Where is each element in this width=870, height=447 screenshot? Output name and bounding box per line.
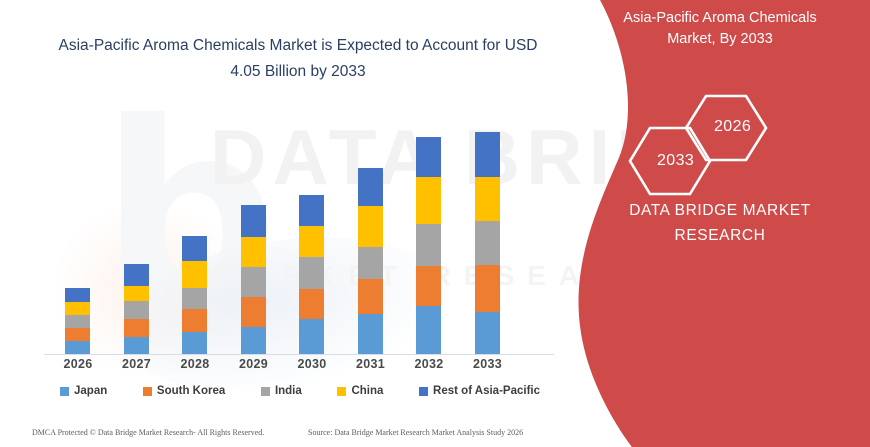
x-tick-2032: 2032 xyxy=(399,357,459,371)
footer-copyright: DMCA Protected © Data Bridge Market Rese… xyxy=(32,428,264,437)
legend-item-south-korea[interactable]: South Korea xyxy=(143,385,225,397)
brand-name: DATA BRIDGE MARKET RESEARCH xyxy=(595,198,845,248)
bar-segment-china xyxy=(124,286,149,301)
bar-segment-china xyxy=(475,177,500,221)
bar-segment-south-korea xyxy=(358,279,383,314)
bar-segment-japan xyxy=(416,306,441,354)
bar-segment-south-korea xyxy=(416,266,441,306)
bar-segment-china xyxy=(241,237,266,267)
bar-segment-china xyxy=(299,226,324,257)
legend-swatch-icon xyxy=(419,387,428,396)
chart-x-tick-labels: 20262027202820292030203120322033 xyxy=(40,357,560,377)
bar-segment-india xyxy=(358,247,383,279)
bar-segment-india xyxy=(416,224,441,266)
chart-x-axis xyxy=(44,354,554,355)
legend-item-china[interactable]: China xyxy=(337,385,383,397)
legend-swatch-icon xyxy=(261,387,270,396)
hexagon-pair: 2033 2026 xyxy=(610,90,840,200)
chart-legend: JapanSouth KoreaIndiaChinaRest of Asia-P… xyxy=(60,385,540,397)
x-tick-2030: 2030 xyxy=(282,357,342,371)
bar-segment-rest-of-asia-pacific xyxy=(358,168,383,206)
page-title: Asia-Pacific Aroma Chemicals Market is E… xyxy=(58,33,538,85)
bar-segment-japan xyxy=(358,314,383,354)
bar-segment-rest-of-asia-pacific xyxy=(475,132,500,177)
bar-segment-rest-of-asia-pacific xyxy=(65,288,90,302)
bar-2027 xyxy=(124,264,149,354)
bar-segment-south-korea xyxy=(299,289,324,319)
bar-segment-china xyxy=(416,177,441,224)
bar-2026 xyxy=(65,288,90,354)
bar-segment-japan xyxy=(299,319,324,354)
legend-label: South Korea xyxy=(157,385,225,397)
bar-segment-india xyxy=(241,267,266,297)
legend-swatch-icon xyxy=(337,387,346,396)
bar-segment-china xyxy=(65,302,90,315)
legend-item-rest-of-asia-pacific[interactable]: Rest of Asia-Pacific xyxy=(419,385,540,397)
bar-2031 xyxy=(358,168,383,354)
hexagon-shapes xyxy=(610,90,840,200)
bar-segment-south-korea xyxy=(182,309,207,332)
bar-segment-india xyxy=(182,288,207,309)
bar-segment-japan xyxy=(124,337,149,354)
hexagon-2033-label: 2033 xyxy=(657,152,694,170)
bar-segment-rest-of-asia-pacific xyxy=(124,264,149,286)
x-tick-2029: 2029 xyxy=(224,357,284,371)
bar-2029 xyxy=(241,205,266,354)
bar-2030 xyxy=(299,195,324,354)
legend-label: Japan xyxy=(74,385,107,397)
x-tick-2031: 2031 xyxy=(341,357,401,371)
bar-segment-india xyxy=(299,257,324,289)
legend-label: India xyxy=(275,385,302,397)
brand-panel: Asia-Pacific Aroma Chemicals Market, By … xyxy=(570,0,870,447)
legend-item-japan[interactable]: Japan xyxy=(60,385,107,397)
bar-segment-china xyxy=(182,261,207,288)
bar-2032 xyxy=(416,137,441,354)
infographic-canvas: b DATA BRIDGE MARKET RESEARCH Asia-Pacif… xyxy=(0,0,870,447)
footer: DMCA Protected © Data Bridge Market Rese… xyxy=(0,428,600,442)
panel-title: Asia-Pacific Aroma Chemicals Market, By … xyxy=(600,8,840,50)
legend-label: Rest of Asia-Pacific xyxy=(433,385,540,397)
bar-segment-japan xyxy=(65,341,90,354)
x-tick-2027: 2027 xyxy=(107,357,167,371)
legend-label: China xyxy=(351,385,383,397)
bar-segment-south-korea xyxy=(475,265,500,312)
bar-segment-china xyxy=(358,206,383,247)
bar-segment-south-korea xyxy=(124,319,149,337)
bar-segment-japan xyxy=(475,312,500,354)
bar-segment-rest-of-asia-pacific xyxy=(299,195,324,226)
footer-source: Source: Data Bridge Market Research Mark… xyxy=(308,428,523,437)
legend-swatch-icon xyxy=(60,387,69,396)
legend-item-india[interactable]: India xyxy=(261,385,302,397)
x-tick-2028: 2028 xyxy=(165,357,225,371)
bar-segment-rest-of-asia-pacific xyxy=(182,236,207,261)
bar-segment-south-korea xyxy=(241,297,266,327)
bar-segment-india xyxy=(124,301,149,319)
stacked-bar-chart xyxy=(40,100,560,355)
bar-segment-japan xyxy=(182,332,207,354)
bar-segment-japan xyxy=(241,327,266,354)
x-tick-2033: 2033 xyxy=(458,357,518,371)
legend-swatch-icon xyxy=(143,387,152,396)
bar-2033 xyxy=(475,132,500,354)
bar-segment-india xyxy=(475,221,500,265)
bar-segment-rest-of-asia-pacific xyxy=(416,137,441,177)
bar-segment-india xyxy=(65,315,90,328)
bar-segment-rest-of-asia-pacific xyxy=(241,205,266,237)
bar-2028 xyxy=(182,236,207,354)
bar-segment-south-korea xyxy=(65,328,90,341)
hexagon-2026-label: 2026 xyxy=(714,118,751,136)
x-tick-2026: 2026 xyxy=(48,357,108,371)
